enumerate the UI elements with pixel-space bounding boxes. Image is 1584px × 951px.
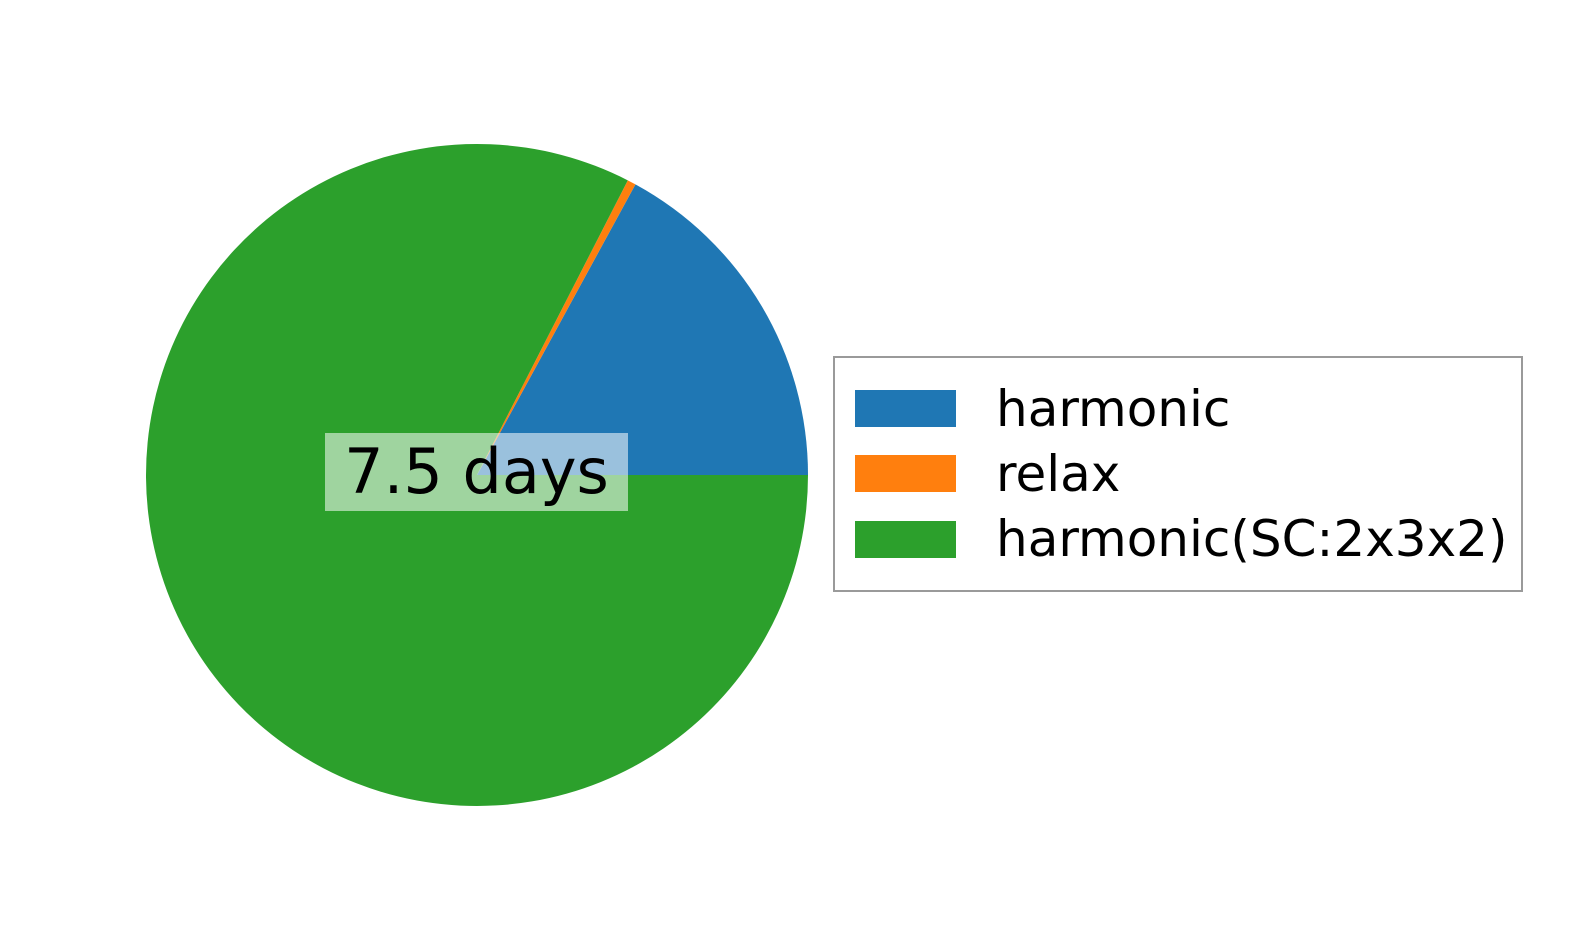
pie-center-label: 7.5 days	[325, 433, 628, 511]
pie-chart-figure: 7.5 days harmonic relax harmonic(SC:2x3x…	[0, 0, 1584, 951]
legend-swatch-harmonic-sc	[855, 521, 956, 558]
legend-swatch-relax	[855, 455, 956, 492]
legend-item-relax: relax	[855, 443, 1507, 505]
legend-item-harmonic: harmonic	[855, 378, 1507, 440]
legend-swatch-harmonic	[855, 390, 956, 427]
legend-label-harmonic: harmonic	[996, 384, 1230, 434]
chart-legend: harmonic relax harmonic(SC:2x3x2)	[833, 356, 1523, 592]
legend-item-harmonic-sc: harmonic(SC:2x3x2)	[855, 508, 1507, 570]
pie-center-label-text: 7.5 days	[344, 441, 609, 503]
legend-label-relax: relax	[996, 449, 1120, 499]
legend-label-harmonic-sc: harmonic(SC:2x3x2)	[996, 514, 1508, 564]
